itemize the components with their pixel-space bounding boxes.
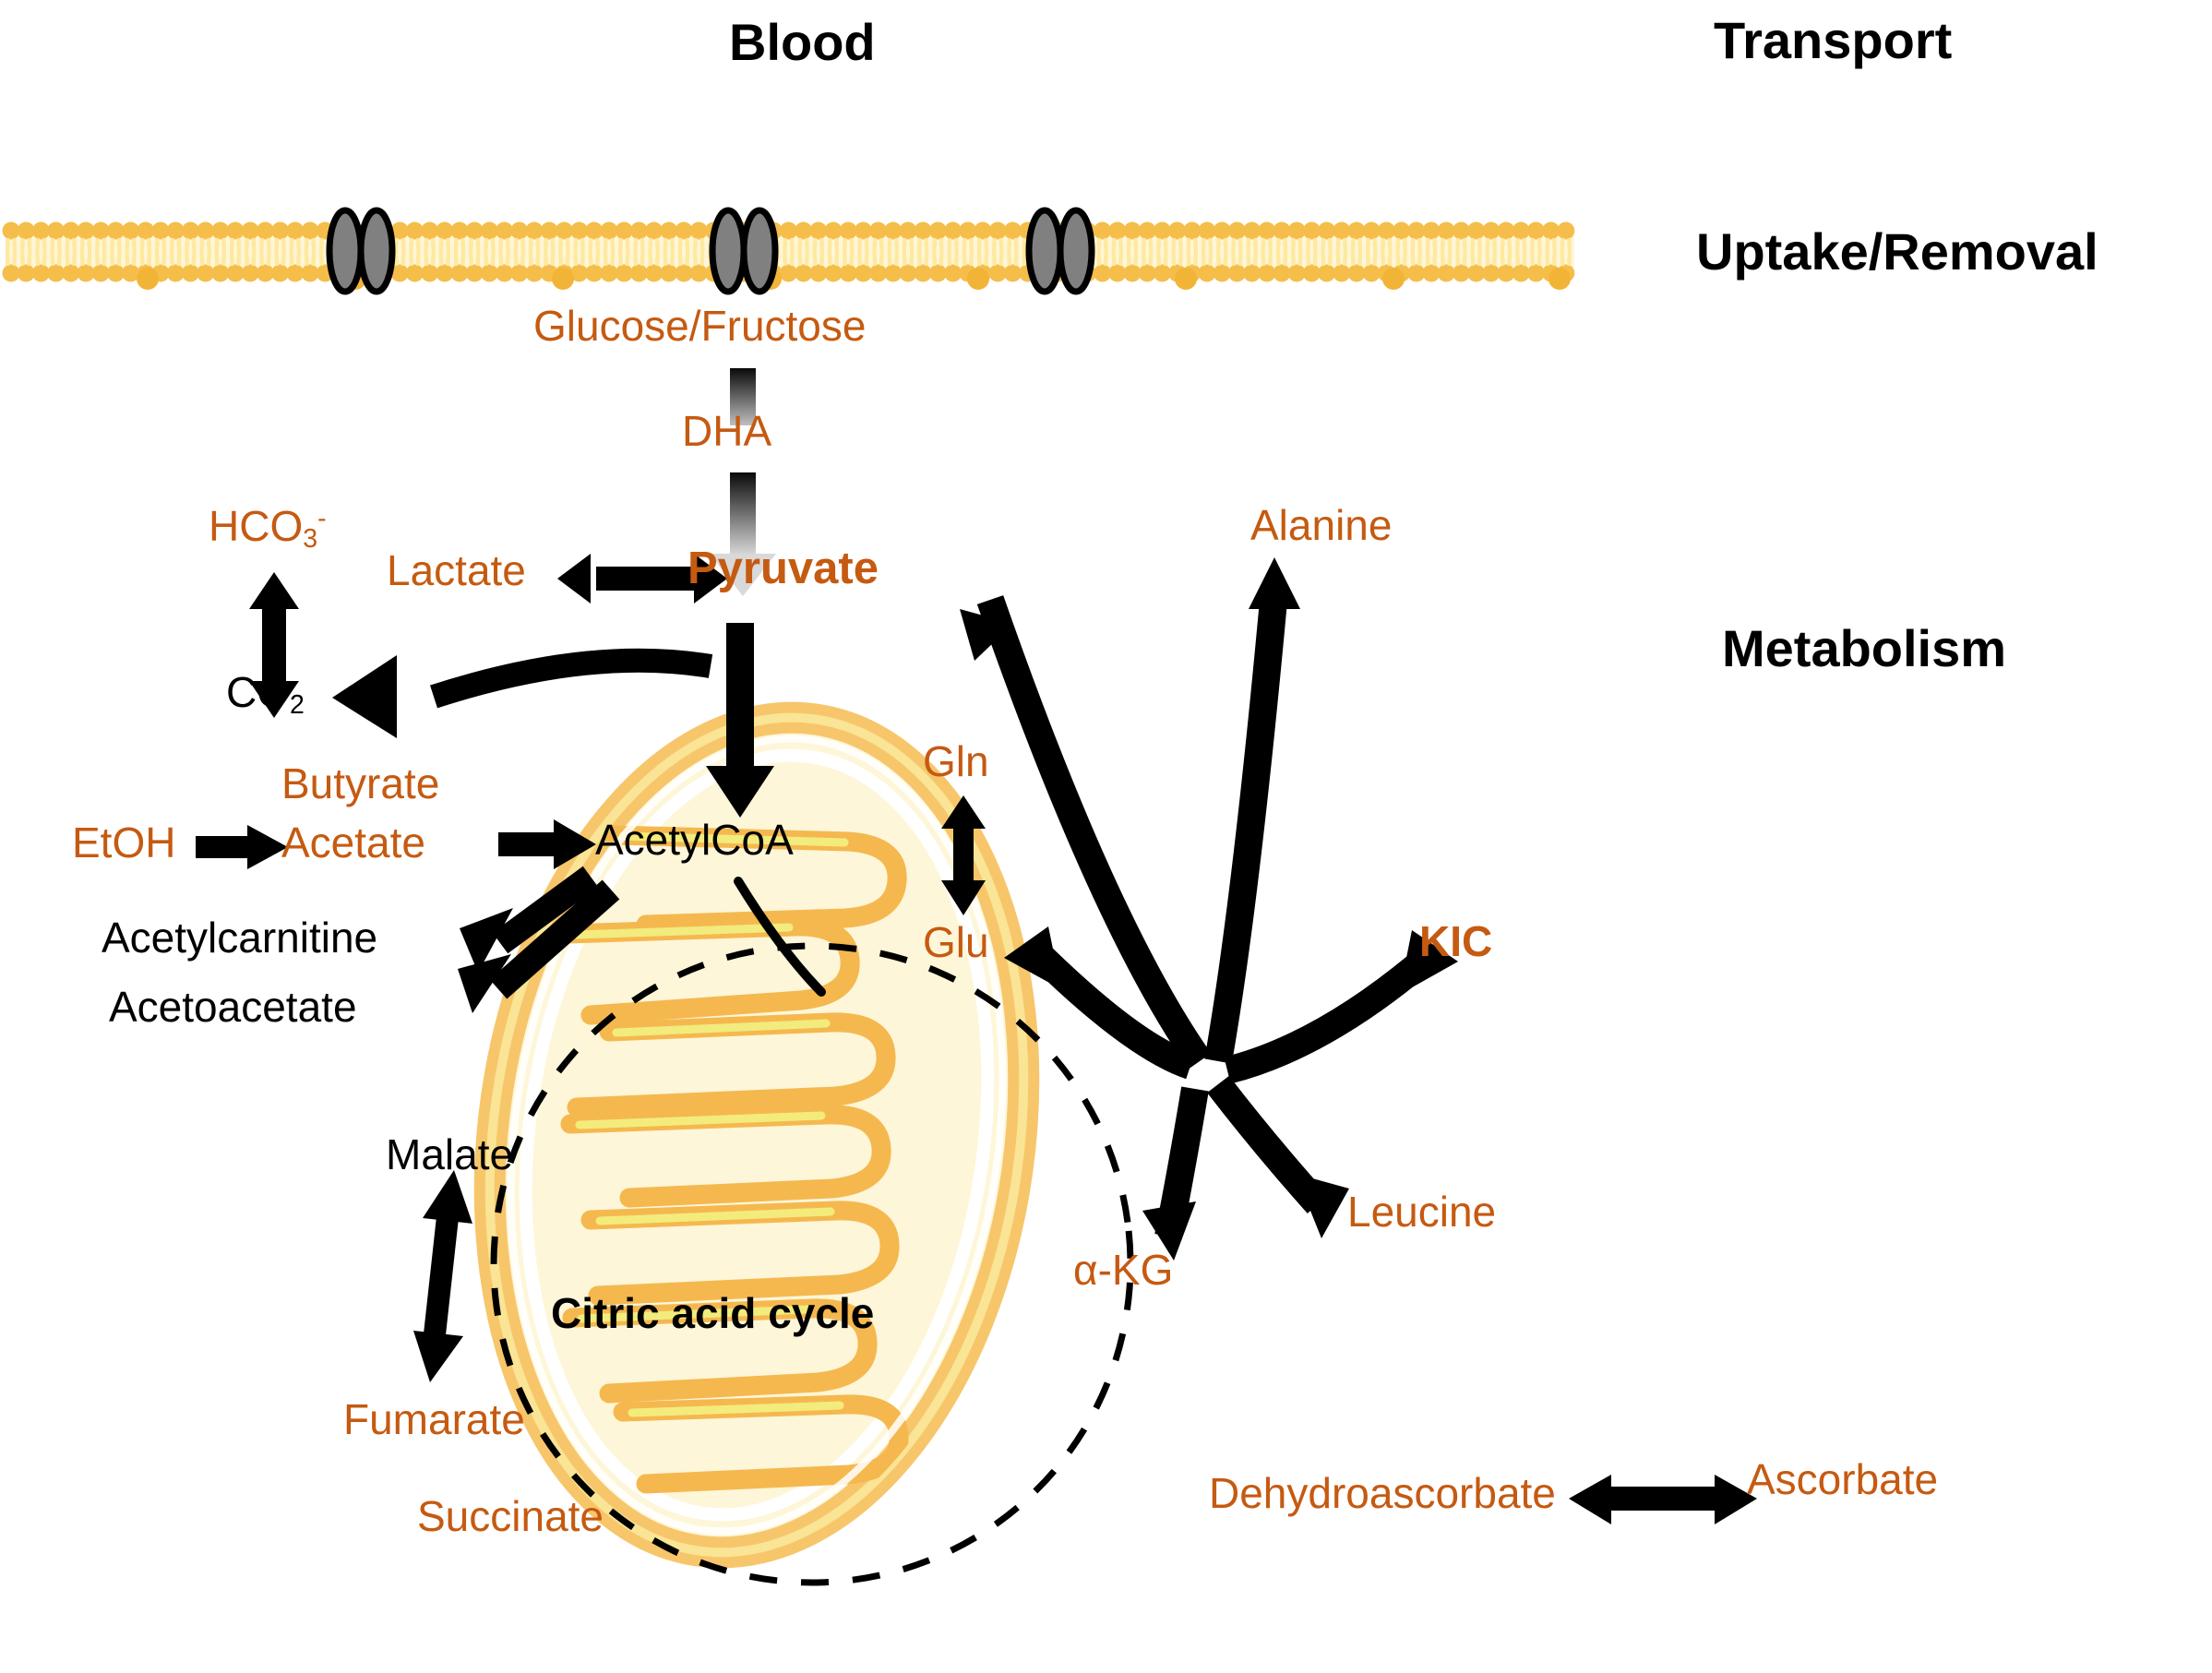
metabolite-alpha-kg: α-KG [1073, 1249, 1173, 1291]
metabolite-malate: Malate [386, 1133, 513, 1176]
arrow-etoh-to-acetate [196, 825, 288, 869]
metabolite-fumarate: Fumarate [343, 1398, 525, 1440]
metabolite-dha: DHA [682, 410, 771, 452]
metabolite-butyrate: Butyrate [281, 762, 439, 805]
co2-subscript: 2 [290, 690, 305, 720]
bicarbonate-subscript: 3 [303, 524, 317, 554]
section-title-uptake-removal: Uptake/Removal [1696, 226, 2098, 278]
arrow-pyruvate-to-acetylcoa [706, 623, 774, 818]
metabolite-leucine: Leucine [1347, 1190, 1496, 1233]
arrow-gln-glu [941, 795, 986, 915]
section-title-metabolism: Metabolism [1722, 623, 2006, 675]
metabolite-acetoacetate: Acetoacetate [109, 986, 357, 1028]
metabolite-succinate: Succinate [417, 1495, 604, 1537]
bicarbonate-formula: HCO [209, 502, 303, 550]
arrow-acetate-to-acetylcoa [498, 819, 596, 869]
metabolite-dehydroascorbate: Dehydroascorbate [1209, 1472, 1556, 1514]
bicarbonate-charge: - [317, 504, 327, 533]
metabolite-co2: CO2 [226, 671, 305, 713]
label-citric-acid-cycle: Citric acid cycle [551, 1292, 874, 1334]
metabolite-kic: KIC [1419, 920, 1492, 962]
metabolite-pyruvate: Pyruvate [688, 546, 879, 592]
metabolite-acetylcarnitine: Acetylcarnitine [102, 916, 377, 959]
metabolite-glucose-fructose: Glucose/Fructose [533, 305, 866, 347]
metabolite-acetate: Acetate [281, 821, 425, 864]
metabolite-alanine: Alanine [1250, 504, 1392, 546]
co2-formula: CO [226, 668, 290, 716]
metabolite-lactate: Lactate [387, 549, 526, 592]
section-title-transport: Transport [1714, 15, 1952, 66]
metabolite-gln: Gln [923, 740, 989, 783]
metabolite-etoh: EtOH [72, 821, 175, 864]
arrow-dehydroascorbate-ascorbate [1569, 1475, 1757, 1524]
metabolite-acetylcoa: AcetylCoA [595, 819, 794, 861]
metabolite-ascorbate: Ascorbate [1747, 1458, 1938, 1500]
arrow-malate-fumarate [413, 1170, 472, 1382]
metabolite-bicarbonate: HCO3- [209, 505, 327, 547]
metabolite-glu: Glu [923, 921, 989, 963]
section-title-blood: Blood [729, 17, 876, 68]
diagram-canvas: Blood Transport Uptake/Removal Metabolis… [0, 0, 2212, 1673]
arrow-pyruvate-to-co2 [332, 655, 711, 738]
amino-acid-transamination-hub [990, 591, 1421, 1237]
amino-acid-hub-arrowheads [960, 557, 1458, 1261]
